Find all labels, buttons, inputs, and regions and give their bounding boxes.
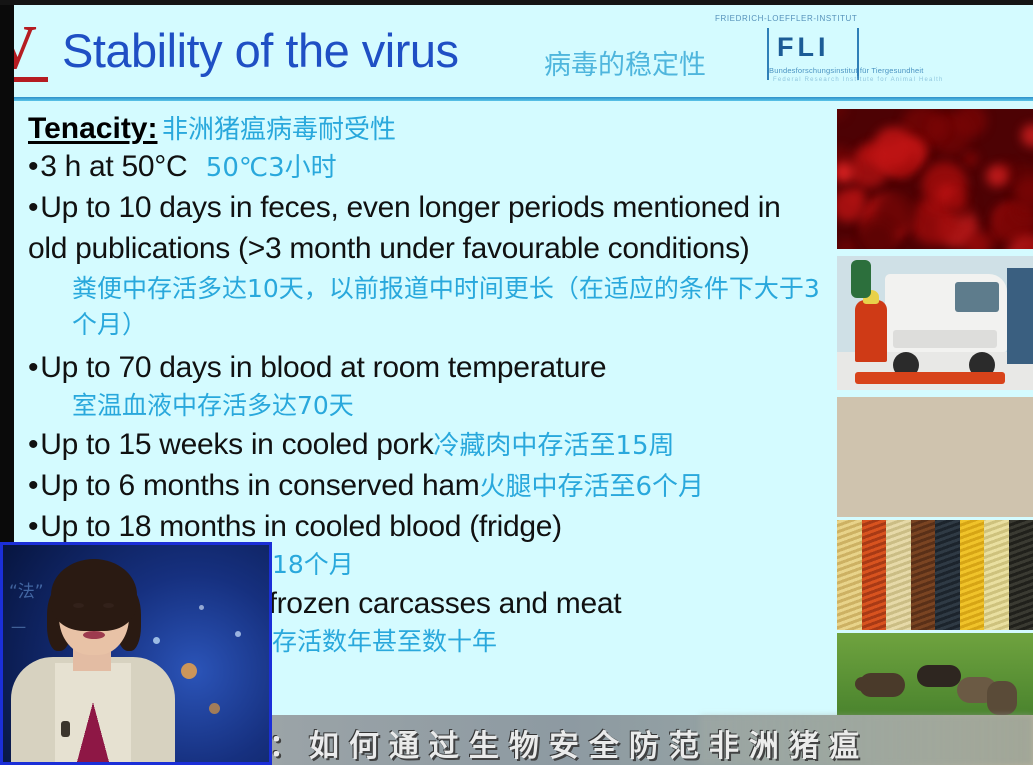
- bokeh-dot: [181, 663, 197, 679]
- tenacity-heading-row: Tenacity: 非洲猪瘟病毒耐受性: [28, 109, 828, 146]
- blood-cell: [873, 127, 914, 168]
- bullet-item: Up to 15 weeks in cooled pork冷藏肉中存活至15周: [28, 424, 828, 465]
- bullet-text: Up to 6 months in conserved ham: [28, 469, 479, 502]
- bullet-item: Up to 6 months in conserved ham火腿中存活至6个月: [28, 465, 828, 506]
- photo-truck-disinfection: [837, 256, 1033, 390]
- presenter-eye-left: [73, 603, 84, 608]
- blood-cell: [862, 222, 893, 249]
- bokeh-dot: [209, 703, 220, 714]
- fli-logo-subtitle-en: Federal Research Institute for Animal He…: [773, 77, 944, 83]
- bullet-text: Up to 15 weeks in cooled pork: [28, 428, 433, 461]
- blood-cell: [837, 109, 847, 120]
- presenter-eye-right: [103, 603, 114, 608]
- bullet-text-chinese: 火腿中存活至6个月: [479, 472, 704, 502]
- bokeh-dot: [235, 631, 241, 637]
- header-divider: [14, 97, 1033, 101]
- bokeh-dot: [199, 605, 204, 610]
- bokeh-dot: [153, 637, 160, 644]
- bullet-note-chinese: 粪便中存活多达10天，以前报道中时间更长（在适应的条件下大于3个月）: [28, 271, 828, 343]
- slide-header: V Stability of the virus 病毒的稳定性 FRIEDRIC…: [14, 5, 1033, 101]
- bullet-item: 3 h at 50°C 50℃3小时: [28, 146, 828, 187]
- bullet-text-chinese: 冷藏肉中存活至15周: [433, 431, 674, 461]
- fli-logo-subtitle: Bundesforschungsinstitut für Tiergesundh…: [769, 66, 924, 75]
- bullet-text-chinese: 50℃3小时: [192, 153, 337, 183]
- blood-cell: [986, 165, 1008, 187]
- webcam-backdrop-text: “法”: [9, 577, 44, 602]
- presenter-mouth: [83, 631, 105, 639]
- presenter-lapel: [55, 663, 131, 765]
- bullet-item: Up to 10 days in feces, even longer peri…: [28, 187, 810, 269]
- fli-logo: FRIEDRICH-LOEFFLER-INSTITUT FLI Bundesfo…: [711, 14, 886, 88]
- blood-cell: [963, 152, 977, 166]
- fli-logo-top-line: FRIEDRICH-LOEFFLER-INSTITUT: [715, 14, 857, 23]
- page-title: Stability of the virus: [62, 23, 459, 78]
- photo-grain-feed: [837, 520, 1033, 630]
- fli-logo-mark: FLI: [777, 32, 830, 63]
- bullet-item: Up to 70 days in blood at room temperatu…: [28, 347, 828, 388]
- blood-cell: [932, 121, 947, 136]
- blood-cell: [837, 189, 864, 221]
- bullet-item: Up to 18 months in cooled blood (fridge): [28, 506, 828, 547]
- lapel-microphone-icon: [61, 721, 70, 737]
- screen: V Stability of the virus 病毒的稳定性 FRIEDRIC…: [0, 0, 1033, 765]
- video-frame-top-bar: [0, 0, 1033, 5]
- presenter-hair: [51, 559, 137, 631]
- photo-red-blood-cells: [837, 109, 1033, 249]
- presenter-webcam-overlay[interactable]: “法” 一: [0, 542, 272, 765]
- bullet-note-chinese: 室温血液中存活多达70天: [28, 388, 828, 424]
- bullet-text: Up to 10 days in feces, even longer peri…: [28, 191, 781, 265]
- bullet-text: 3 h at 50°C: [28, 150, 187, 183]
- tenacity-heading: Tenacity:: [28, 112, 157, 145]
- photo-soil-compost: [837, 397, 1033, 517]
- bullet-text: Up to 18 months in cooled blood (fridge): [28, 510, 562, 543]
- webcam-backdrop-text-2: 一: [11, 617, 26, 638]
- page-title-chinese: 病毒的稳定性: [544, 43, 706, 82]
- blood-cell: [1021, 124, 1033, 148]
- blood-cell: [837, 239, 857, 249]
- tenacity-heading-chinese: 非洲猪瘟病毒耐受性: [162, 115, 396, 145]
- slide-photo-column: [837, 109, 1033, 715]
- blood-cell: [1014, 179, 1033, 207]
- bullet-text: Up to 70 days in blood at room temperatu…: [28, 351, 606, 384]
